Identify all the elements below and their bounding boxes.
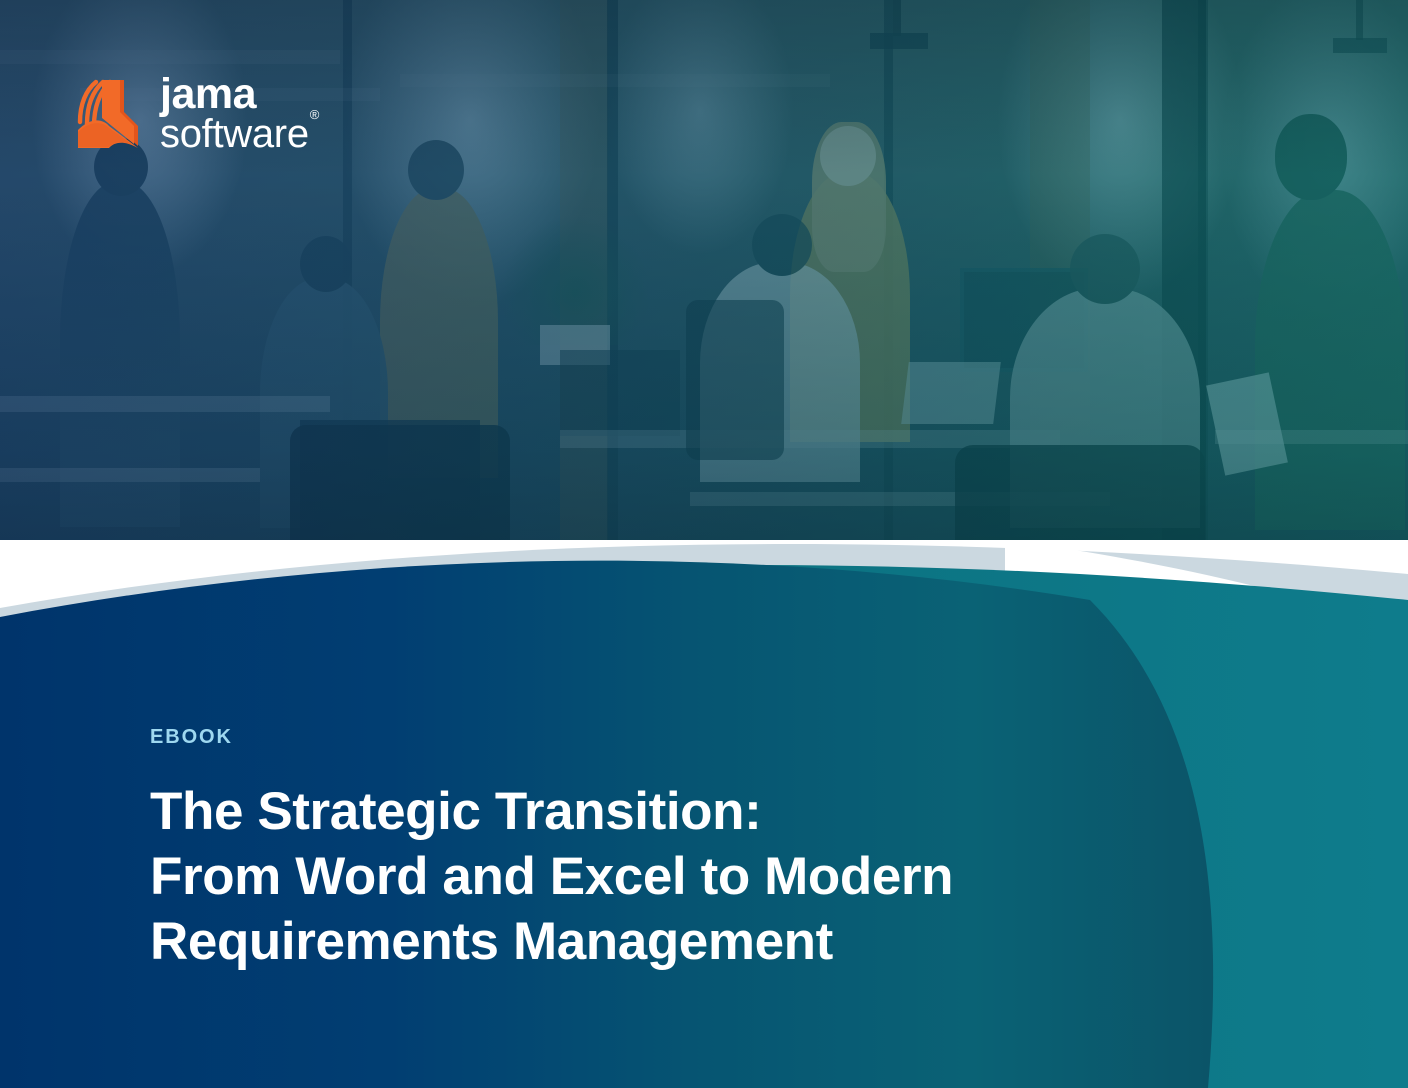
ebook-cover-page: jama software® EBOOK The Strategic Trans… xyxy=(0,0,1408,1088)
logo-text-software: software® xyxy=(160,114,318,154)
logo-software-word: software xyxy=(160,112,309,156)
jama-logo-mark-icon xyxy=(72,74,146,154)
page-title-line-3: Requirements Management xyxy=(150,909,1150,974)
registered-trademark-mark: ® xyxy=(310,107,319,122)
page-title-line-2: From Word and Excel to Modern xyxy=(150,844,1150,909)
eyebrow-label: EBOOK xyxy=(150,726,1150,749)
page-title-line-1: The Strategic Transition: xyxy=(150,779,1150,844)
jama-software-logo[interactable]: jama software® xyxy=(72,68,332,160)
page-title: The Strategic Transition: From Word and … xyxy=(150,779,1150,975)
logo-text-jama: jama xyxy=(160,74,318,114)
title-block: EBOOK The Strategic Transition: From Wor… xyxy=(150,726,1150,975)
logo-wordmark: jama software® xyxy=(160,74,318,154)
